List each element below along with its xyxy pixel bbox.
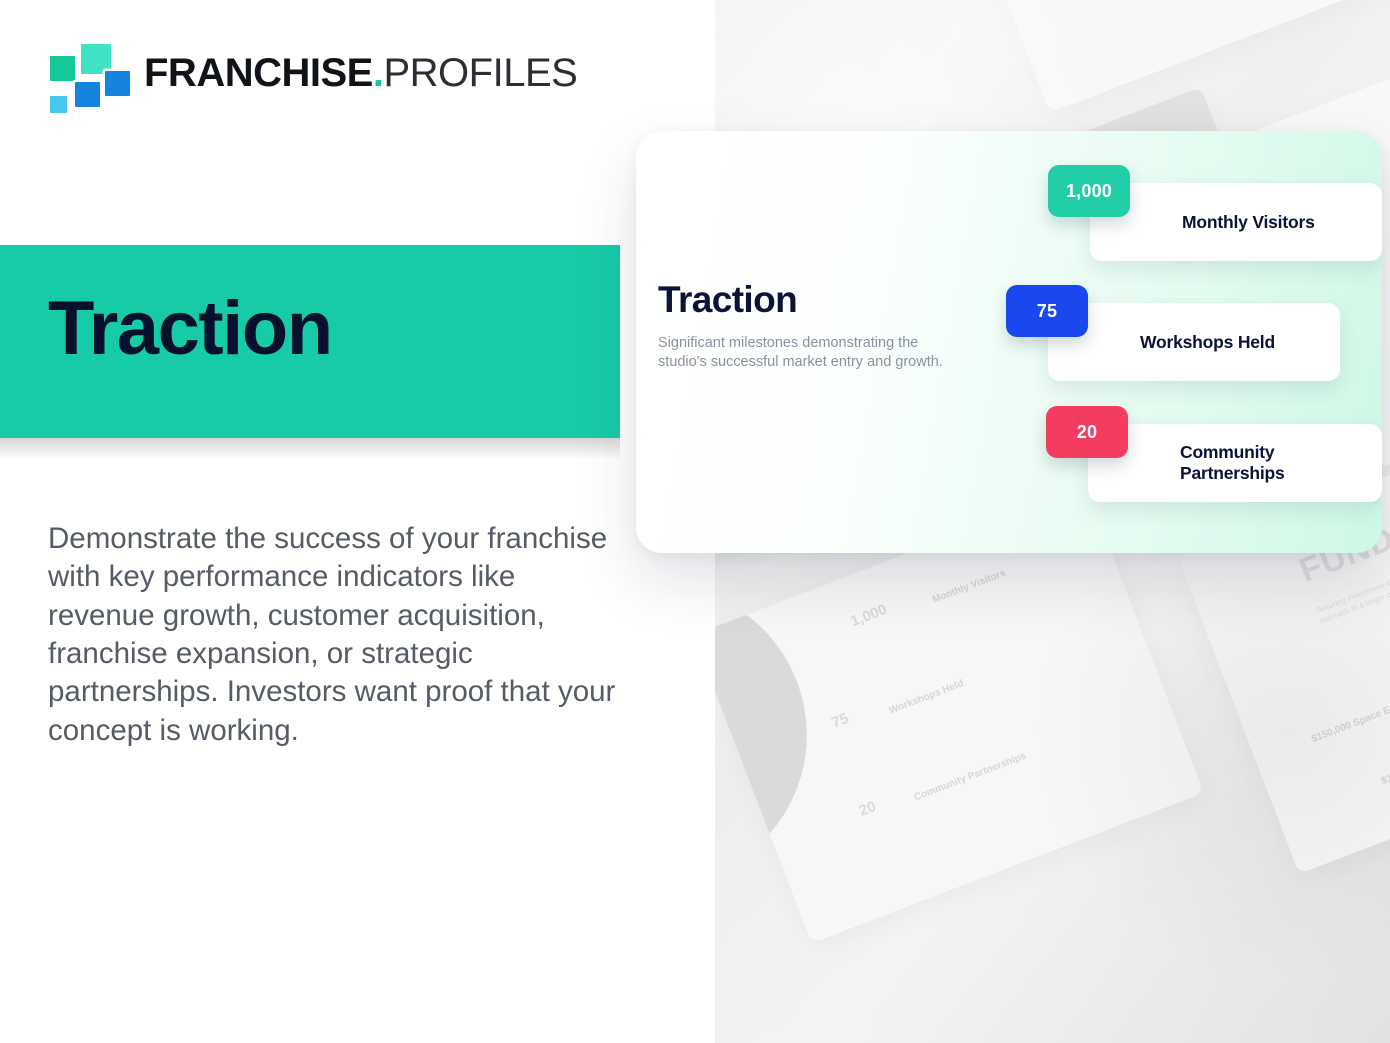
metric-label: Community Partnerships xyxy=(1180,442,1382,484)
metric-badge-value: 20 xyxy=(1046,406,1128,458)
background-slide-traction: 1,000 Monthly Visitors 75 Workshops Held… xyxy=(715,485,1204,944)
page-title: Traction xyxy=(48,291,332,367)
metric-plate: Monthly Visitors xyxy=(1090,183,1382,261)
traction-preview-card: Traction Significant milestones demonstr… xyxy=(636,131,1382,553)
brand-name-bold: FRANCHISE xyxy=(144,51,373,95)
logo-square-blue-left xyxy=(75,82,100,107)
logo-square-teal-light xyxy=(81,44,111,74)
background-slide-problem: Lack of Accessibility High Cost Limited … xyxy=(935,0,1386,113)
metric-label: Monthly Visitors xyxy=(1182,212,1315,233)
metric-list: Monthly Visitors 1,000 Workshops Held 75… xyxy=(996,165,1382,525)
metric-plate: Workshops Held xyxy=(1048,303,1340,381)
logo-square-teal-dark xyxy=(50,56,75,81)
brand-wordmark: FRANCHISE.PROFILES xyxy=(144,53,577,93)
brand-logo[interactable]: FRANCHISE.PROFILES xyxy=(48,44,577,102)
section-banner: Traction xyxy=(0,245,620,438)
decor-blob xyxy=(715,541,851,929)
card-subtitle: Significant milestones demonstrating the… xyxy=(658,334,958,372)
slide-canvas: Drop-In Fees Session Workshops Commissio… xyxy=(0,0,1390,1043)
metric-badge-value: 1,000 xyxy=(1048,165,1130,217)
brand-name-dot: . xyxy=(373,51,384,95)
metric-label: Workshops Held xyxy=(1140,332,1275,353)
logo-square-cyan xyxy=(50,96,67,113)
logo-square-blue-right xyxy=(105,71,130,96)
logo-mark-icon xyxy=(48,44,108,102)
card-title: Traction xyxy=(658,281,988,318)
metric-badge-value: 75 xyxy=(1006,285,1088,337)
metric-row-workshops-held[interactable]: Workshops Held 75 xyxy=(1006,285,1340,375)
metric-row-community-partnerships[interactable]: Community Partnerships 20 xyxy=(1046,406,1382,496)
brand-name-thin: PROFILES xyxy=(383,51,577,95)
card-text-block: Traction Significant milestones demonstr… xyxy=(658,281,988,372)
section-description: Demonstrate the success of your franchis… xyxy=(48,520,628,750)
metric-row-monthly-visitors[interactable]: Monthly Visitors 1,000 xyxy=(1048,165,1382,255)
metric-plate: Community Partnerships xyxy=(1088,424,1382,502)
